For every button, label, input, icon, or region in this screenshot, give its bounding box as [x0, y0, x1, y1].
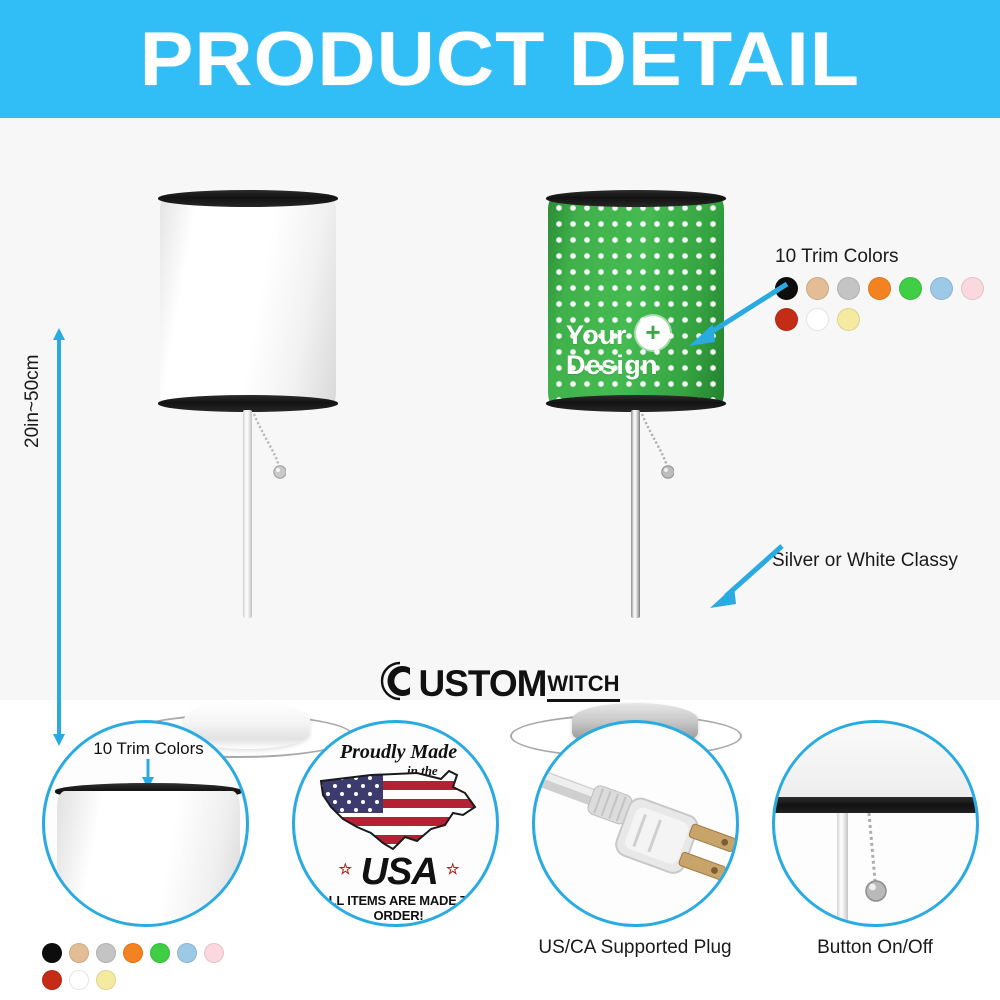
pull-chain-green [640, 412, 674, 492]
design-line-2: Design [566, 350, 658, 380]
panel-shade-body [57, 791, 240, 927]
made-to-order-text: ALL ITEMS ARE MADE TO ORDER! [295, 893, 499, 923]
lampshade-surface [160, 196, 336, 406]
bottom-trim-swatch-row[interactable] [42, 943, 249, 990]
swatch-light-blue[interactable] [930, 277, 953, 300]
lamp-pole-white [243, 410, 252, 618]
power-plug-icon [535, 723, 739, 927]
switch-caption: Button On/Off [750, 937, 1000, 959]
feature-panels: 10 Trim Colors Proudly Made in the [0, 715, 1000, 1000]
swatch-yellow[interactable] [96, 970, 116, 990]
usa-wordmark: ☆ USA ☆ [295, 851, 499, 894]
switch-shade-body [772, 720, 979, 803]
lamp-white [0, 118, 420, 700]
product-stage: 7in~18cm 20in~50cm [0, 118, 1000, 700]
swatch-yellow[interactable] [837, 308, 860, 331]
panel-made-in-usa: Proudly Made in the [270, 715, 520, 1000]
lampshade-white [160, 196, 336, 406]
swatch-green[interactable] [899, 277, 922, 300]
plus-icon: + [636, 316, 670, 350]
logo-custom-text: USTOM [418, 665, 546, 702]
page-header: PRODUCT DETAIL [0, 0, 1000, 118]
panel-switch: Button On/Off [750, 715, 1000, 1000]
panel-plug: US/CA Supported Plug [510, 715, 760, 1000]
swatch-pink[interactable] [961, 277, 984, 300]
swatch-orange[interactable] [123, 943, 143, 963]
shade-trim-top [546, 190, 726, 207]
pull-chain-switch-icon [857, 811, 897, 921]
swatch-red[interactable] [42, 970, 62, 990]
page-title: PRODUCT DETAIL [140, 16, 860, 103]
swatch-orange[interactable] [868, 277, 891, 300]
pull-chain-white [252, 412, 286, 492]
swatch-white[interactable] [69, 970, 89, 990]
swatch-tan[interactable] [806, 277, 829, 300]
star-right-icon: ☆ [446, 861, 458, 878]
swatch-green[interactable] [150, 943, 170, 963]
swatch-pink[interactable] [204, 943, 224, 963]
panel-trim-colors: 10 Trim Colors [20, 715, 270, 1000]
made-in-usa-badge: Proudly Made in the [292, 720, 499, 927]
swatch-gray[interactable] [837, 277, 860, 300]
trim-callout-arrow [675, 278, 795, 353]
swatch-black[interactable] [42, 943, 62, 963]
plug-photo [532, 720, 739, 927]
logo-c-icon [380, 660, 420, 702]
lamp-green: Your Design + [450, 118, 870, 700]
lamp-pole-silver [631, 410, 640, 618]
usa-map-flag-icon [313, 763, 485, 859]
shade-trim-top [158, 190, 338, 207]
base-finish-callout-arrow [700, 538, 790, 618]
panel-trim-colors-label: 10 Trim Colors [45, 739, 249, 759]
star-left-icon: ☆ [339, 861, 351, 878]
plug-caption: US/CA Supported Plug [510, 937, 760, 959]
trim-colors-legend: 10 Trim Colors [775, 246, 997, 331]
base-finish-callout-label: Silver or White Classy [772, 550, 958, 572]
logo-witch-text: WITCH [547, 671, 619, 702]
trim-color-swatch-row[interactable] [775, 277, 997, 331]
switch-photo [772, 720, 979, 927]
swatch-light-blue[interactable] [177, 943, 197, 963]
usa-text: USA [361, 851, 437, 893]
swatch-gray[interactable] [96, 943, 116, 963]
swatch-white[interactable] [806, 308, 829, 331]
brand-logo: USTOM WITCH [0, 660, 1000, 702]
switch-lamp-pole [837, 813, 848, 927]
trim-colors-photo: 10 Trim Colors [42, 720, 249, 927]
swatch-tan[interactable] [69, 943, 89, 963]
proudly-made-text: Proudly Made [295, 741, 499, 764]
trim-colors-title: 10 Trim Colors [775, 246, 997, 268]
